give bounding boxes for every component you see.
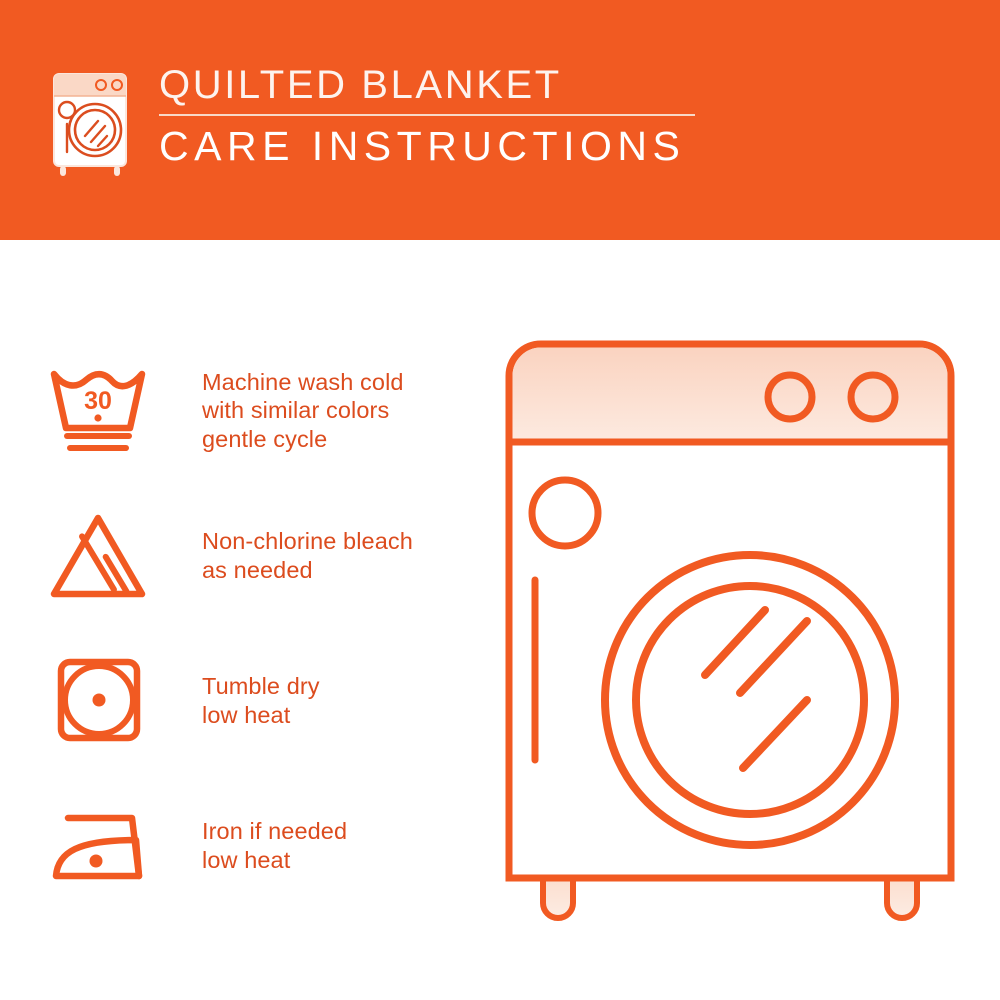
wash-tub-30-gentle-icon: 30 xyxy=(46,365,150,457)
care-icon-cell: 30 xyxy=(46,365,176,457)
page-title-primary: QUILTED BLANKET xyxy=(157,62,695,108)
care-icon-cell xyxy=(46,655,176,747)
care-item-label: Non-chlorine bleach as needed xyxy=(176,527,413,584)
header-title-group: QUILTED BLANKET CARE INSTRUCTIONS xyxy=(157,62,695,169)
care-item-machine-wash: 30 Machine wash cold with similar colors… xyxy=(46,338,466,483)
care-item-label: Iron if needed low heat xyxy=(176,817,347,874)
tumble-dry-low-heat-icon xyxy=(46,655,150,747)
non-chlorine-bleach-triangle-icon xyxy=(46,510,150,602)
machine-control-panel xyxy=(513,348,948,442)
iron-low-heat-icon xyxy=(46,800,150,892)
care-icon-cell xyxy=(46,510,176,602)
care-item-label: Tumble dry low heat xyxy=(176,672,320,729)
page-title-secondary: CARE INSTRUCTIONS xyxy=(157,123,695,169)
wash-temperature-label: 30 xyxy=(84,387,112,415)
header-content: QUILTED BLANKET CARE INSTRUCTIONS xyxy=(45,62,695,180)
title-divider xyxy=(159,114,695,116)
care-item-iron: Iron if needed low heat xyxy=(46,773,466,918)
care-item-label: Machine wash cold with similar colors ge… xyxy=(176,368,404,454)
header-banner: QUILTED BLANKET CARE INSTRUCTIONS xyxy=(0,0,1000,240)
washing-machine-illustration xyxy=(495,330,965,940)
care-item-tumble-dry: Tumble dry low heat xyxy=(46,628,466,773)
care-instruction-list: 30 Machine wash cold with similar colors… xyxy=(46,338,466,918)
care-icon-cell xyxy=(46,800,176,892)
care-item-bleach: Non-chlorine bleach as needed xyxy=(46,483,466,628)
washing-machine-icon xyxy=(45,68,143,180)
